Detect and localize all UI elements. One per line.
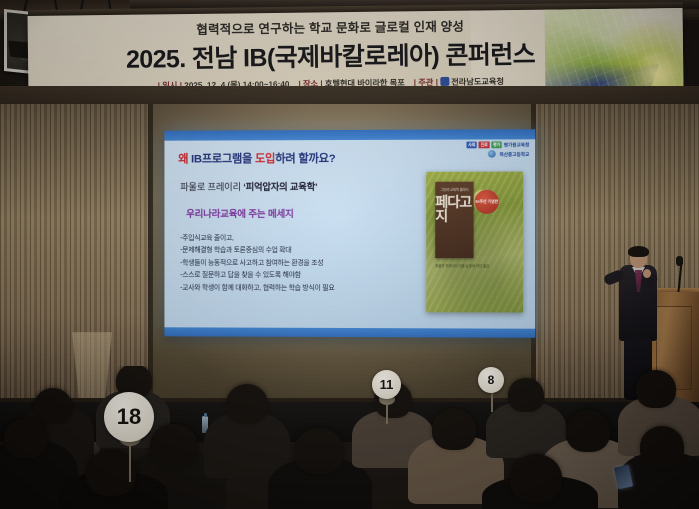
audience-head [640, 426, 684, 468]
slide-title-part1: 왜 [178, 154, 191, 166]
placard-number: 11 [380, 377, 394, 392]
slide-title-part4: 하려 할까요? [275, 153, 335, 165]
book-title-plate: 그린비 교육학 클래식 페다고지 [435, 182, 473, 258]
book-cover-image: 그린비 교육학 클래식 페다고지 50주년 기념판 파울루 프레이리 지음 남경… [426, 172, 523, 313]
slide-bottom-band [164, 327, 535, 337]
table-placard-18: 18 [104, 392, 154, 442]
audience [0, 366, 699, 509]
banner-title: 2025. 전남 IB(국제바칼로레아) 콘퍼런스 [126, 35, 535, 76]
slide-logo-block: 사회 진로 평가 평가원교육청 목산중고등학교 [466, 141, 529, 157]
slide-logo-chip-2: 진로 [479, 141, 490, 148]
book-credits: 파울루 프레이리 지음 남경태·허진 옮김 [435, 264, 489, 269]
slide-logo-org-2: 목산중고등학교 [499, 150, 529, 157]
audience-head [432, 408, 476, 450]
book-series-label: 그린비 교육학 클래식 [440, 187, 468, 192]
book-title: 페다고지 [435, 195, 473, 224]
audience-head [294, 428, 344, 474]
slide-subtitle-prefix: 파울로 프레이리 [180, 181, 243, 192]
audience-head [226, 384, 268, 424]
slide-logo-chip-1: 사회 [466, 142, 477, 149]
slide-logo-chip-3: 평가 [491, 141, 502, 148]
audience-head [150, 424, 198, 468]
placard-number: 18 [117, 404, 141, 430]
projection-screen: 사회 진로 평가 평가원교육청 목산중고등학교 왜 IB프로그램을 도입하려 할… [164, 129, 535, 338]
table-placard-11: 11 [372, 370, 401, 399]
slide-content: 사회 진로 평가 평가원교육청 목산중고등학교 왜 IB프로그램을 도입하려 할… [164, 139, 535, 328]
audience-head [636, 370, 676, 408]
audience-head [566, 410, 610, 452]
banner-subtitle: 협력적으로 연구하는 학교 문화로 글로컬 인재 양성 [196, 16, 464, 38]
slide-title-part3: 도입 [255, 153, 275, 165]
slide-logo-org-1: 평가원교육청 [504, 141, 530, 148]
curtain-left [0, 104, 150, 404]
table-placard-8: 8 [478, 367, 504, 393]
placard-number: 8 [488, 373, 495, 387]
audience-head [4, 418, 48, 458]
audience-head [510, 454, 562, 502]
wall-edge-left [148, 104, 153, 404]
event-banner: 협력적으로 연구하는 학교 문화로 글로컬 인재 양성 2025. 전남 IB(… [28, 8, 684, 98]
slide-title-part2: IB프로그램을 [191, 153, 255, 165]
book-badge: 50주년 기념판 [475, 190, 499, 214]
conference-photo: 협력적으로 연구하는 학교 문화로 글로컬 인재 양성 2025. 전남 IB(… [0, 0, 699, 509]
school-emblem-icon [488, 150, 496, 158]
education-office-logo-icon [440, 77, 449, 86]
placard-stem [491, 392, 493, 412]
audience-head [34, 388, 72, 424]
slide-subtitle-quote: ‘피억압자의 교육학’ [243, 181, 317, 192]
audience-head [508, 378, 544, 412]
